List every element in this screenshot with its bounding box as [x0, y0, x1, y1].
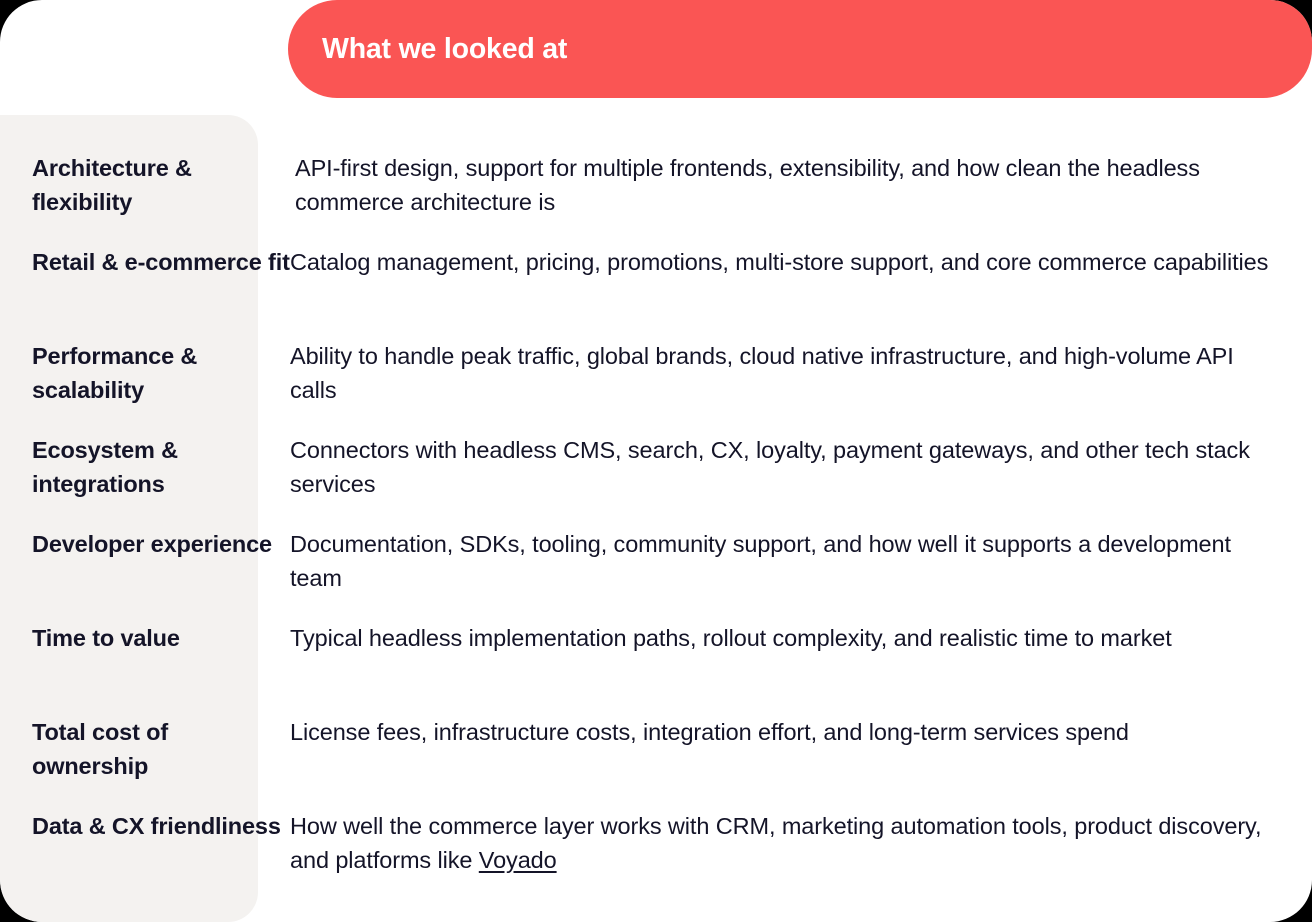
- criteria-label: Architecture & flexibility: [0, 151, 290, 219]
- criteria-description-text: API-first design, support for multiple f…: [295, 155, 1200, 215]
- criteria-row: Retail & e-commerce fitCatalog managemen…: [0, 245, 1312, 279]
- criteria-description-text: Documentation, SDKs, tooling, community …: [290, 531, 1231, 591]
- criteria-description-text: Typical headless implementation paths, r…: [290, 625, 1172, 651]
- criteria-row: Time to valueTypical headless implementa…: [0, 621, 1312, 655]
- criteria-description: Ability to handle peak traffic, global b…: [290, 339, 1312, 407]
- inline-link-voyado[interactable]: Voyado: [479, 847, 557, 873]
- criteria-list: Architecture & flexibilityAPI-first desi…: [0, 115, 1312, 922]
- criteria-description-text: How well the commerce layer works with C…: [290, 813, 1261, 873]
- criteria-description: License fees, infrastructure costs, inte…: [290, 715, 1312, 783]
- criteria-description: Documentation, SDKs, tooling, community …: [290, 527, 1312, 595]
- criteria-description-text: License fees, infrastructure costs, inte…: [290, 719, 1129, 745]
- criteria-row: Total cost of ownershipLicense fees, inf…: [0, 715, 1312, 783]
- criteria-description: How well the commerce layer works with C…: [290, 809, 1312, 877]
- comparison-criteria-card: What we looked at Architecture & flexibi…: [0, 0, 1312, 922]
- criteria-label: Data & CX friendliness: [0, 809, 290, 877]
- criteria-label: Retail & e-commerce fit: [0, 245, 290, 279]
- header-banner: What we looked at: [288, 0, 1312, 98]
- criteria-description: API-first design, support for multiple f…: [290, 151, 1312, 219]
- criteria-description: Typical headless implementation paths, r…: [290, 621, 1312, 655]
- header-banner-right-fill: [1230, 0, 1312, 49]
- criteria-description-text: Ability to handle peak traffic, global b…: [290, 343, 1234, 403]
- criteria-row: Performance & scalabilityAbility to hand…: [0, 339, 1312, 407]
- criteria-row: Ecosystem & integrationsConnectors with …: [0, 433, 1312, 501]
- criteria-description-text: Catalog management, pricing, promotions,…: [290, 249, 1268, 275]
- criteria-row: Developer experienceDocumentation, SDKs,…: [0, 527, 1312, 595]
- criteria-label: Ecosystem & integrations: [0, 433, 290, 501]
- criteria-description: Connectors with headless CMS, search, CX…: [290, 433, 1312, 501]
- page-title: What we looked at: [322, 35, 567, 64]
- criteria-description-text: Connectors with headless CMS, search, CX…: [290, 437, 1250, 497]
- criteria-label: Performance & scalability: [0, 339, 290, 407]
- criteria-row: Data & CX friendlinessHow well the comme…: [0, 809, 1312, 877]
- criteria-label: Time to value: [0, 621, 290, 655]
- criteria-label: Total cost of ownership: [0, 715, 290, 783]
- criteria-description: Catalog management, pricing, promotions,…: [290, 245, 1312, 279]
- criteria-row: Architecture & flexibilityAPI-first desi…: [0, 151, 1312, 219]
- criteria-label: Developer experience: [0, 527, 290, 595]
